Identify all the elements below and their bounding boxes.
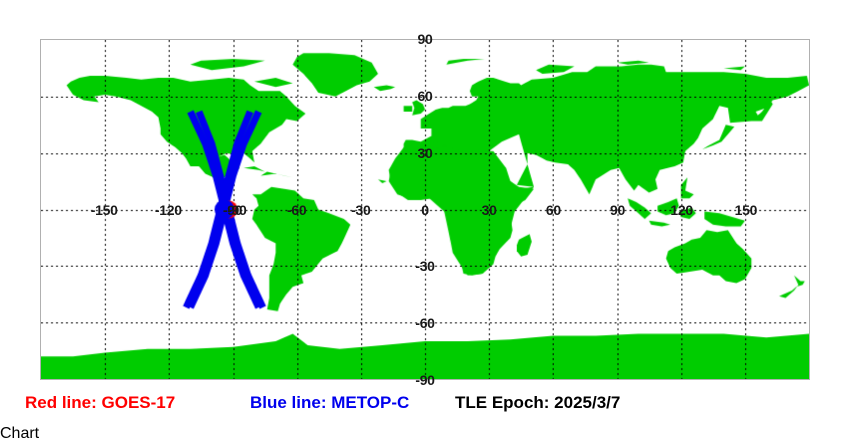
lat-tick--30: -30 [415, 259, 434, 273]
lon-tick--120: -120 [155, 203, 182, 217]
lon-tick--30: -30 [351, 203, 370, 217]
legend-red-line: Red line: GOES-17 [25, 392, 175, 414]
lon-tick-60: 60 [546, 203, 561, 217]
lat-tick--90: -90 [415, 373, 434, 387]
legend-caption: Red line: GOES-17 Blue line: METOP-C TLE… [0, 392, 850, 422]
lon-tick--60: -60 [287, 203, 306, 217]
satellite-marker-label: -90 [227, 203, 246, 217]
lon-tick-150: 150 [735, 203, 757, 217]
lon-tick-120: 120 [670, 203, 692, 217]
lat-tick--60: -60 [415, 316, 434, 330]
lon-tick-30: 30 [482, 203, 497, 217]
legend-tle-epoch: TLE Epoch: 2025/3/7 [455, 392, 620, 414]
lat-tick-90: 90 [418, 32, 433, 46]
lat-tick-60: 60 [418, 89, 433, 103]
lat-tick-30: 30 [418, 146, 433, 160]
lon-tick-90: 90 [610, 203, 625, 217]
legend-blue-line: Blue line: METOP-C [250, 392, 409, 414]
lon-tick--150: -150 [91, 203, 118, 217]
origin-tick-0: 0 [421, 203, 429, 217]
satellite-ground-track-map: -150-120-90-60-300306090120150-90-60-303… [0, 0, 850, 425]
